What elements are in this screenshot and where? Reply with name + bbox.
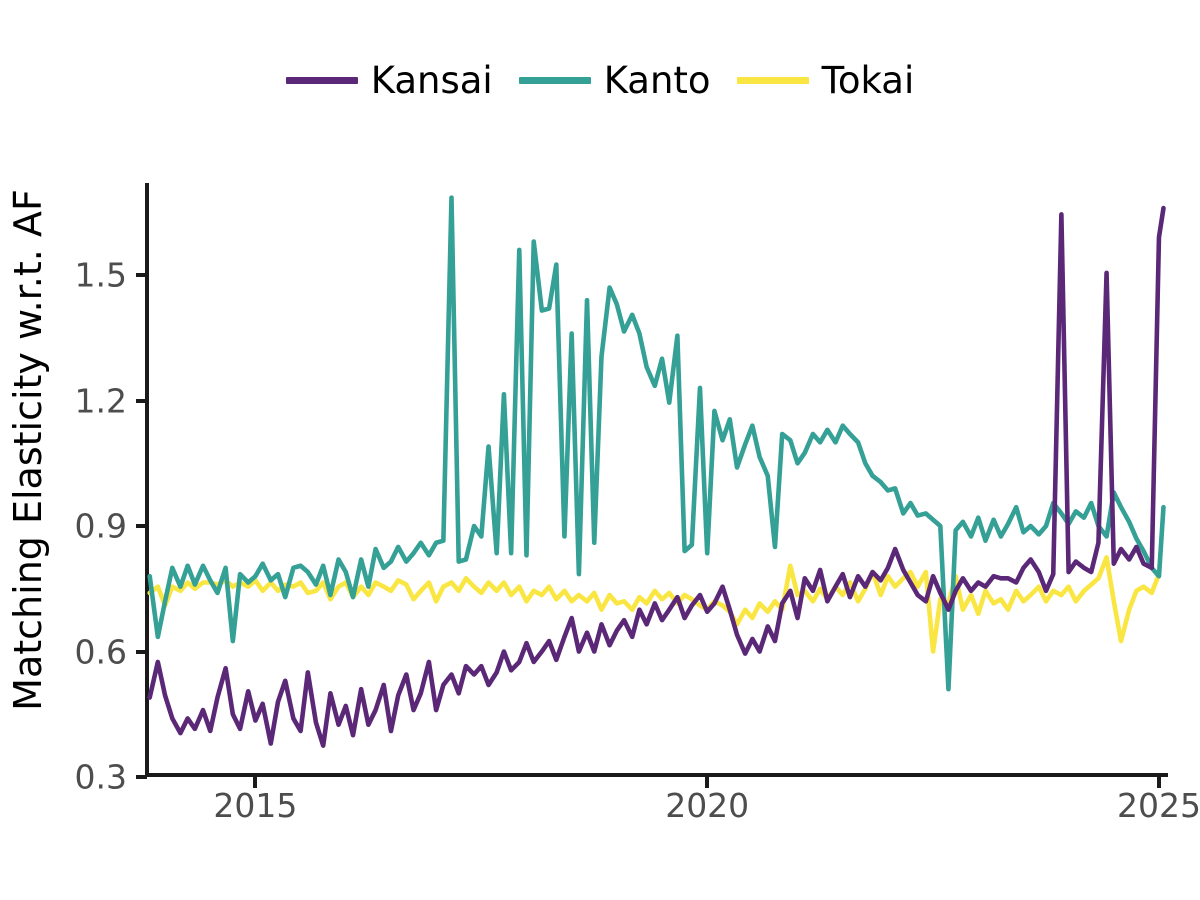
x-tick-label: 2025 <box>1117 786 1200 825</box>
legend-label-kansai: Kansai <box>371 62 493 99</box>
x-tick-label: 2020 <box>665 786 749 825</box>
y-tick-mark <box>136 273 147 277</box>
y-tick-label: 0.3 <box>75 758 127 797</box>
y-axis-title-text: Matching Elasticity w.r.t. AF <box>6 189 50 711</box>
series-line-kanto <box>150 198 1164 690</box>
chart-legend: Kansai Kanto Tokai <box>0 52 1200 108</box>
y-tick-label: 1.2 <box>75 381 127 420</box>
y-tick-label: 1.5 <box>75 256 127 295</box>
legend-label-kanto: Kanto <box>604 62 711 99</box>
legend-label-tokai: Tokai <box>822 62 915 99</box>
chart-figure: Kansai Kanto Tokai Matching Elasticity w… <box>0 0 1200 900</box>
x-tick-mark <box>1157 777 1161 788</box>
legend-swatch-kanto <box>519 77 591 84</box>
legend-swatch-tokai <box>737 77 809 84</box>
legend-item-kanto[interactable]: Kanto <box>519 62 711 99</box>
legend-swatch-kansai <box>286 77 358 84</box>
y-tick-mark <box>136 775 147 779</box>
series-canvas <box>147 183 1168 777</box>
y-tick-label: 0.6 <box>75 632 127 671</box>
y-tick-mark <box>136 650 147 654</box>
y-axis-title: Matching Elasticity w.r.t. AF <box>0 0 56 900</box>
y-tick-mark <box>136 524 147 528</box>
x-tick-mark <box>705 777 709 788</box>
legend-item-tokai[interactable]: Tokai <box>737 62 915 99</box>
legend-item-kansai[interactable]: Kansai <box>286 62 493 99</box>
plot-area <box>147 183 1168 777</box>
series-line-kansai <box>150 208 1164 746</box>
x-tick-mark <box>253 777 257 788</box>
y-tick-mark <box>136 399 147 403</box>
x-tick-label: 2015 <box>213 786 297 825</box>
y-tick-label: 0.9 <box>75 507 127 546</box>
